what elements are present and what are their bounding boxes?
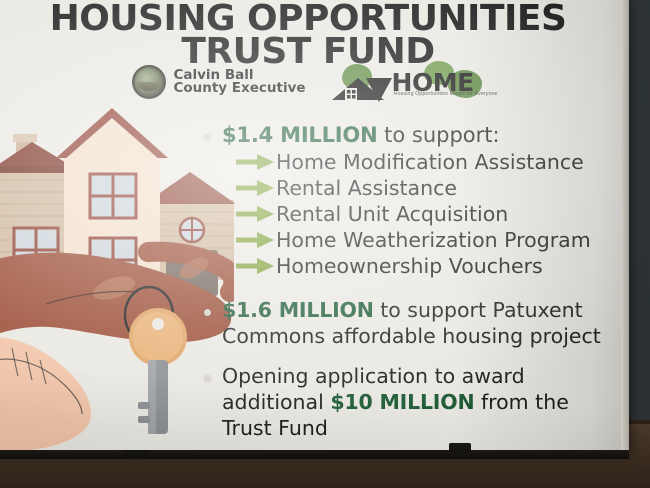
list-item: Rental Assistance [236, 175, 604, 201]
bullet-3-line-2-pre: additional [222, 390, 330, 414]
list-item: Homeownership Vouchers [236, 253, 604, 279]
bullet-2-line-2: Commons affordable housing project [222, 324, 601, 348]
list-item: Home Modification Assistance [236, 149, 604, 175]
list-item-label: Home Weatherization Program [276, 229, 591, 251]
county-seal-icon [132, 65, 166, 99]
bullet-2-rest: to support Patuxent [374, 298, 583, 322]
poster-clip [449, 443, 471, 455]
logo-row: Calvin Ball County Executive [0, 60, 618, 104]
bullet-block-3: Opening application to awardadditional $… [204, 363, 604, 441]
bullet-1-lead: $1.4 MILLION to support: [222, 122, 604, 149]
county-executive-line-2: County Executive [173, 82, 305, 96]
hands-holding-key-and-house-illustration [0, 102, 234, 452]
arrow-right-icon [236, 153, 274, 171]
bullet-2-text: $1.6 MILLION to support PatuxentCommons … [222, 297, 604, 349]
bullet-1-rest: to support: [377, 123, 499, 147]
list-item-label: Rental Unit Acquisition [276, 203, 508, 225]
list-item-label: Home Modification Assistance [276, 151, 584, 173]
arrow-right-icon [236, 205, 274, 223]
photo-of-presentation-poster: HOUSING OPPORTUNITIES TRUST FUND Calvin … [0, 0, 650, 488]
poster-body: $1.4 MILLION to support: Home Modificati… [204, 122, 604, 443]
bullet-1-amount: $1.4 MILLION [222, 123, 377, 147]
list-item-label: Homeownership Vouchers [276, 255, 543, 277]
arrow-right-icon [236, 179, 274, 197]
bullet-block-2: $1.6 MILLION to support PatuxentCommons … [204, 297, 604, 349]
county-executive-name: Calvin Ball County Executive [173, 69, 305, 96]
bullet-3-text: Opening application to awardadditional $… [222, 363, 604, 441]
list-item-label: Rental Assistance [276, 177, 457, 199]
poster-clip-secondary [126, 450, 146, 458]
poster-board: HOUSING OPPORTUNITIES TRUST FUND Calvin … [0, 0, 627, 453]
poster-bottom-edge [0, 450, 629, 459]
list-item: Home Weatherization Program [236, 227, 604, 253]
poster-title: HOUSING OPPORTUNITIES TRUST FUND [0, 2, 618, 68]
bullet-dot [204, 375, 211, 382]
arrow-right-icon [236, 257, 274, 275]
home-tagline: Housing Opportunities Meant for Everyone [394, 91, 498, 97]
bullet-3-line-1: Opening application to award [222, 364, 525, 388]
bullet-2-amount: $1.6 MILLION [222, 298, 374, 322]
arrow-right-icon [236, 231, 274, 249]
poster-right-edge [621, 0, 629, 455]
bullet-block-1: $1.4 MILLION to support: Home Modificati… [204, 122, 604, 279]
bullet-1-items: Home Modification Assistance Rental Assi… [222, 149, 604, 279]
home-program-logo: HOME Housing Opportunities Meant for Eve… [332, 60, 484, 104]
bullet-3-line-3: Trust Fund [222, 416, 328, 440]
bullet-3-line-2-post: from the [474, 390, 568, 414]
bullet-3-amount: $10 MILLION [330, 390, 474, 414]
bullet-dot [204, 134, 211, 141]
county-executive-logo: Calvin Ball County Executive [132, 65, 305, 99]
bullet-dot [204, 309, 211, 316]
list-item: Rental Unit Acquisition [236, 201, 604, 227]
